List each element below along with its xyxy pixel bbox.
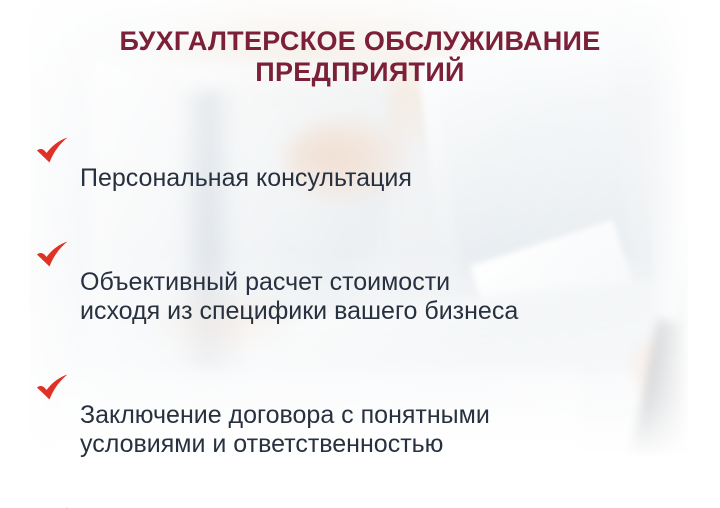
list-item-label: Объективный расчет стоимости исходя из с… <box>80 268 518 325</box>
list-item-label: Персональная консультация <box>80 164 412 192</box>
red-check-icon <box>36 478 70 506</box>
list-item-label: Заключение договора с понятными условиям… <box>80 401 490 458</box>
red-check-icon <box>36 212 70 240</box>
avito-watermark-label: Avito <box>647 470 706 496</box>
red-check-icon <box>36 108 70 136</box>
avito-logo-icon <box>616 470 642 496</box>
page-title: БУХГАЛТЕРСКОЕ ОБСЛУЖИВАНИЕ ПРЕДПРИЯТИЙ <box>0 26 720 88</box>
list-item: Персональная консультация <box>28 106 720 193</box>
avito-watermark: Avito <box>616 470 706 496</box>
list-item: Объективный расчет стоимости исходя из с… <box>28 210 720 326</box>
red-check-icon <box>36 345 70 373</box>
benefits-list: Персональная консультация Объективный ра… <box>28 106 720 508</box>
list-item: Заключение договора с понятными условиям… <box>28 343 720 459</box>
poster: БУХГАЛТЕРСКОЕ ОБСЛУЖИВАНИЕ ПРЕДПРИЯТИЙ П… <box>0 0 720 508</box>
